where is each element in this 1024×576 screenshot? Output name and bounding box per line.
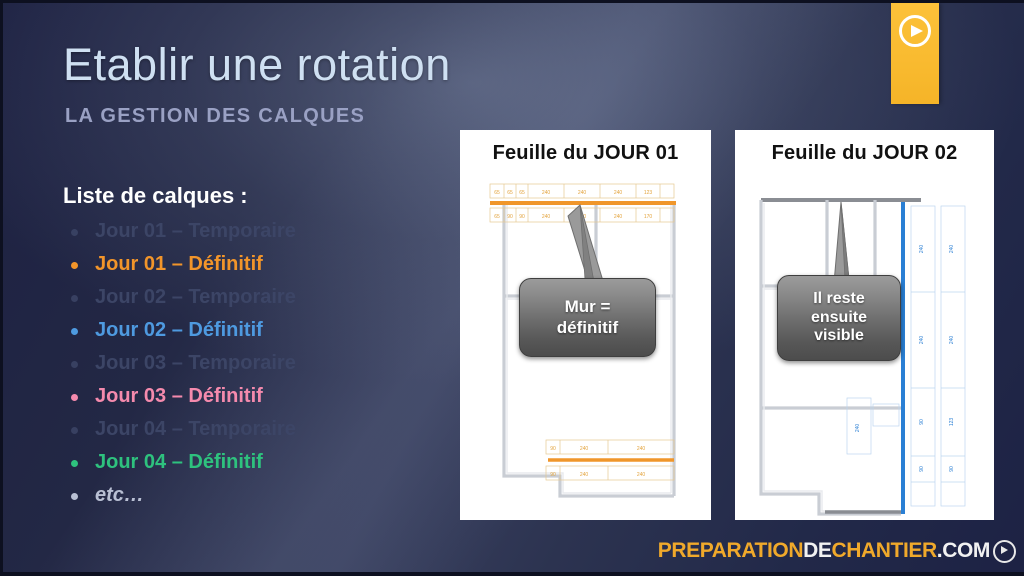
layer-list-item-label: Jour 04 – Définitif bbox=[95, 451, 263, 473]
svg-text:240: 240 bbox=[580, 472, 589, 478]
layer-list-item-label: Jour 03 – Définitif bbox=[95, 385, 263, 407]
svg-text:65: 65 bbox=[519, 190, 525, 196]
callout-2-line-1: Il reste bbox=[811, 290, 867, 309]
svg-text:123: 123 bbox=[949, 418, 955, 427]
svg-text:90: 90 bbox=[519, 214, 525, 220]
footer-brand-part-2: DE bbox=[803, 539, 831, 563]
svg-text:240: 240 bbox=[855, 424, 861, 433]
svg-text:123: 123 bbox=[644, 190, 653, 196]
bullet-icon bbox=[71, 493, 78, 500]
svg-text:65: 65 bbox=[494, 190, 500, 196]
svg-text:240: 240 bbox=[919, 245, 925, 254]
layer-list-item[interactable]: Jour 01 – Temporaire bbox=[63, 215, 443, 248]
footer-brand: PREPARATIONDECHANTIER.COM bbox=[658, 538, 1016, 564]
svg-text:240: 240 bbox=[542, 190, 551, 196]
callout-2-line-3: visible bbox=[811, 327, 867, 346]
svg-text:65: 65 bbox=[494, 214, 500, 220]
layer-list-heading: Liste de calques : bbox=[63, 183, 248, 209]
layer-list-item-label: Jour 03 – Temporaire bbox=[95, 352, 296, 374]
play-circle-icon bbox=[899, 15, 931, 47]
footer-brand-part-3: CHANTIER bbox=[831, 539, 936, 563]
callout-2-line-2: ensuite bbox=[811, 309, 867, 328]
page-title: Etablir une rotation bbox=[63, 39, 451, 91]
layer-list-item[interactable]: Jour 04 – Temporaire bbox=[63, 413, 443, 446]
footer-brand-part-1: PREPARATION bbox=[658, 539, 803, 563]
page-subtitle: LA GESTION DES CALQUES bbox=[65, 105, 365, 128]
callout-mur-definitif: Mur = définitif bbox=[519, 278, 656, 357]
footer-brand-part-4: .COM bbox=[937, 539, 990, 563]
layer-list-item-label: Jour 01 – Temporaire bbox=[95, 220, 296, 242]
svg-text:240: 240 bbox=[949, 336, 955, 345]
panel-2-title: Feuille du JOUR 02 bbox=[735, 142, 994, 165]
svg-text:90: 90 bbox=[919, 419, 925, 425]
svg-text:90: 90 bbox=[919, 466, 925, 472]
layer-list-item[interactable]: Jour 01 – Définitif bbox=[63, 248, 443, 281]
svg-text:240: 240 bbox=[614, 190, 623, 196]
callout-reste-visible: Il reste ensuite visible bbox=[777, 275, 901, 361]
brand-ribbon bbox=[891, 3, 939, 104]
svg-text:240: 240 bbox=[614, 214, 623, 220]
layer-list-item-label: etc… bbox=[95, 484, 144, 506]
layer-list-item-label: Jour 02 – Définitif bbox=[95, 319, 263, 341]
bullet-icon bbox=[71, 229, 78, 236]
layer-list-item[interactable]: Jour 02 – Temporaire bbox=[63, 281, 443, 314]
svg-text:170: 170 bbox=[644, 214, 653, 220]
svg-text:240: 240 bbox=[919, 336, 925, 345]
bullet-icon bbox=[71, 262, 78, 269]
play-circle-icon bbox=[993, 540, 1016, 563]
svg-text:240: 240 bbox=[637, 472, 646, 478]
svg-text:240: 240 bbox=[542, 214, 551, 220]
svg-text:90: 90 bbox=[550, 446, 556, 452]
layer-list-item[interactable]: Jour 02 – Définitif bbox=[63, 314, 443, 347]
layer-list-item[interactable]: Jour 03 – Temporaire bbox=[63, 347, 443, 380]
svg-text:65: 65 bbox=[507, 190, 513, 196]
layer-list-item[interactable]: Jour 03 – Définitif bbox=[63, 380, 443, 413]
panel-1-title: Feuille du JOUR 01 bbox=[460, 142, 711, 165]
svg-text:240: 240 bbox=[580, 446, 589, 452]
callout-1-line-1: Mur = bbox=[557, 297, 618, 317]
presentation-slide: Etablir une rotation LA GESTION DES CALQ… bbox=[0, 0, 1024, 576]
bullet-icon bbox=[71, 361, 78, 368]
svg-text:90: 90 bbox=[507, 214, 513, 220]
bullet-icon bbox=[71, 295, 78, 302]
svg-text:90: 90 bbox=[550, 472, 556, 478]
callout-1-line-2: définitif bbox=[557, 318, 618, 338]
bullet-icon bbox=[71, 394, 78, 401]
bullet-icon bbox=[71, 328, 78, 335]
layer-list: Jour 01 – TemporaireJour 01 – DéfinitifJ… bbox=[63, 215, 443, 512]
svg-text:240: 240 bbox=[637, 446, 646, 452]
layer-list-item-label: Jour 01 – Définitif bbox=[95, 253, 263, 275]
layer-list-item-label: Jour 02 – Temporaire bbox=[95, 286, 296, 308]
svg-text:240: 240 bbox=[578, 190, 587, 196]
svg-text:240: 240 bbox=[949, 245, 955, 254]
bullet-icon bbox=[71, 427, 78, 434]
svg-text:90: 90 bbox=[949, 466, 955, 472]
layer-list-item[interactable]: etc… bbox=[63, 479, 443, 512]
layer-list-item[interactable]: Jour 04 – Définitif bbox=[63, 446, 443, 479]
bullet-icon bbox=[71, 460, 78, 467]
layer-list-item-label: Jour 04 – Temporaire bbox=[95, 418, 296, 440]
